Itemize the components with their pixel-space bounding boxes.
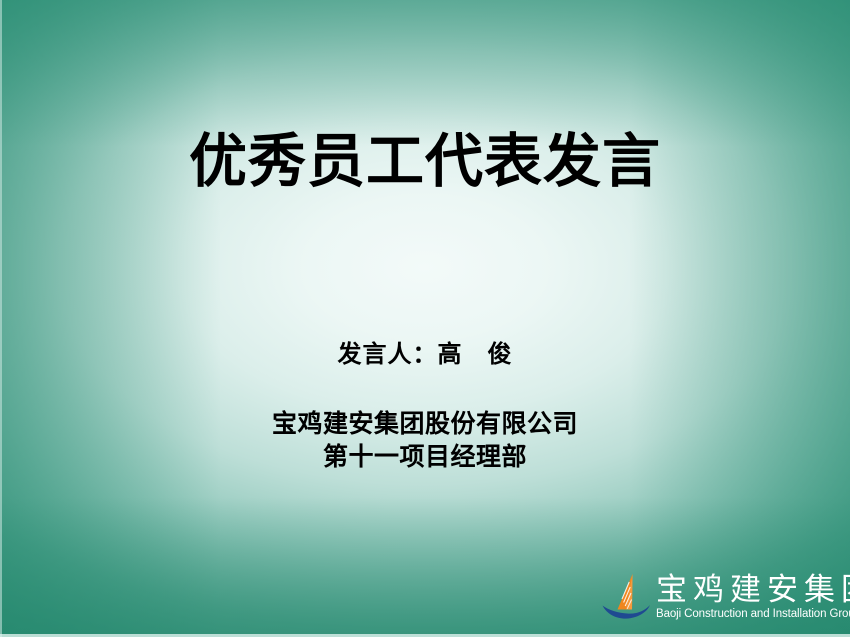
slide-title: 优秀员工代表发言 bbox=[0, 131, 850, 194]
logo-company-name-en: Baoji Construction and Installation Grou… bbox=[656, 608, 850, 621]
company-logo: 宝鸡建安集团 Baoji Construction and Installati… bbox=[596, 566, 848, 628]
sailboat-logo-icon bbox=[596, 568, 654, 626]
organization-department-name: 第十一项目经理部 bbox=[0, 441, 850, 474]
organization-company-name: 宝鸡建安集团股份有限公司 bbox=[0, 408, 850, 441]
organization-block: 宝鸡建安集团股份有限公司 第十一项目经理部 bbox=[0, 408, 850, 473]
speaker-name-line: 发言人：高 俊 bbox=[0, 334, 850, 369]
logo-text-block: 宝鸡建安集团 Baoji Construction and Installati… bbox=[656, 573, 850, 620]
slide-content: 优秀员工代表发言 发言人：高 俊 宝鸡建安集团股份有限公司 第十一项目经理部 bbox=[0, 0, 850, 637]
logo-company-name-cn: 宝鸡建安集团 bbox=[656, 573, 850, 606]
presentation-slide: 优秀员工代表发言 发言人：高 俊 宝鸡建安集团股份有限公司 第十一项目经理部 bbox=[0, 0, 850, 637]
